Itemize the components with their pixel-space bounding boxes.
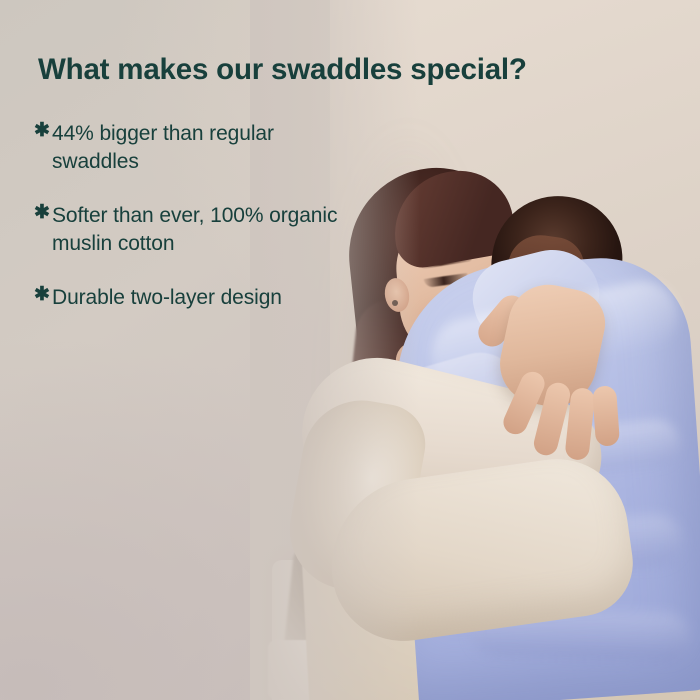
list-item: ✱ 44% bigger than regular swaddles — [34, 120, 364, 176]
text-overlay: What makes our swaddles special? ✱ 44% b… — [0, 0, 700, 700]
asterisk-bullet-icon: ✱ — [34, 202, 52, 224]
asterisk-bullet-icon: ✱ — [34, 120, 52, 142]
page-title: What makes our swaddles special? — [38, 52, 558, 87]
list-item-label: Softer than ever, 100% organic muslin co… — [52, 202, 364, 258]
list-item-label: Durable two-layer design — [52, 284, 364, 312]
promo-graphic: What makes our swaddles special? ✱ 44% b… — [0, 0, 700, 700]
list-item: ✱ Durable two-layer design — [34, 284, 364, 312]
list-item: ✱ Softer than ever, 100% organic muslin … — [34, 202, 364, 258]
asterisk-bullet-icon: ✱ — [34, 284, 52, 306]
feature-list: ✱ 44% bigger than regular swaddles ✱ Sof… — [34, 120, 364, 338]
list-item-label: 44% bigger than regular swaddles — [52, 120, 364, 176]
